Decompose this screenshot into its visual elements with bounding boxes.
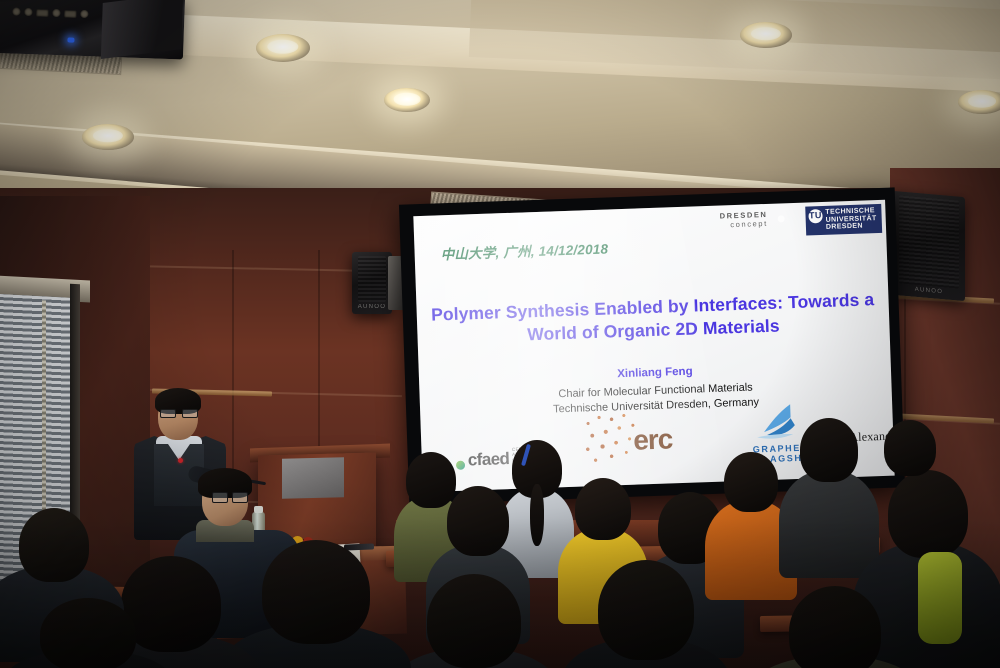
downlight-icon bbox=[384, 88, 430, 112]
downlight-icon bbox=[256, 34, 310, 62]
audience-head bbox=[447, 486, 509, 556]
tu-dresden-logo: TU TECHNISCHE UNIVERSITÄT DRESDEN bbox=[805, 204, 882, 235]
tu-dresden-line3: DRESDEN bbox=[826, 222, 877, 231]
audience-head bbox=[427, 574, 521, 668]
audience-jacket-stripe bbox=[918, 552, 962, 644]
erc-wordmark: erc bbox=[633, 423, 673, 456]
tu-dresden-mark-icon: TU bbox=[808, 209, 822, 223]
audience-head bbox=[724, 452, 778, 512]
ceiling-projector bbox=[0, 0, 185, 59]
speaker-brand-label: AUNOO bbox=[352, 304, 392, 310]
audience-member bbox=[760, 586, 910, 668]
audience-head bbox=[884, 420, 936, 476]
audience-head bbox=[40, 598, 136, 668]
projector-body-face bbox=[101, 0, 183, 59]
audience-head bbox=[598, 560, 694, 660]
projector-ports bbox=[12, 3, 95, 22]
audience-head bbox=[789, 586, 881, 668]
audience-member bbox=[236, 540, 396, 668]
audience-body bbox=[779, 470, 879, 578]
audience-member bbox=[576, 560, 716, 668]
downlight-icon bbox=[740, 22, 792, 48]
dresden-concept-line2: concept bbox=[730, 219, 768, 229]
wall-speaker-left: AUNOO bbox=[352, 252, 392, 314]
projector-mount bbox=[0, 0, 56, 2]
presenter-lapel-pin bbox=[178, 458, 183, 463]
dresden-concept-logo: DRESDEN concept bbox=[719, 209, 789, 229]
audience-head bbox=[575, 478, 631, 540]
audience-glasses-icon bbox=[212, 492, 246, 501]
slide-title: Polymer Synthesis Enabled by Interfaces:… bbox=[424, 288, 881, 350]
audience-head bbox=[800, 418, 858, 482]
projector-power-led bbox=[67, 37, 74, 42]
wall-panel-seam bbox=[318, 250, 320, 460]
dresden-concept-text: DRESDEN concept bbox=[719, 210, 767, 230]
ceiling bbox=[0, 0, 1000, 200]
erc-logo: erc bbox=[580, 408, 700, 468]
audience-member bbox=[18, 598, 158, 668]
lecture-hall-photo: AUNOO AUNOO DRESDEN concept TU TECHNISCH… bbox=[0, 0, 1000, 668]
dresden-concept-ring-icon bbox=[772, 210, 790, 228]
presenter-glasses-icon bbox=[160, 409, 196, 416]
audience-member bbox=[880, 420, 940, 490]
downlight-icon bbox=[82, 124, 134, 150]
audience-member bbox=[404, 574, 544, 668]
audience-head bbox=[19, 508, 89, 582]
audience-head bbox=[262, 540, 370, 644]
wall-speaker-right: AUNOO bbox=[893, 191, 965, 301]
slide-header-venue-date: 中山大学, 广州, 14/12/2018 bbox=[440, 237, 608, 263]
downlight-icon bbox=[958, 90, 1000, 114]
audience-ponytail bbox=[530, 484, 544, 546]
audience-member bbox=[786, 418, 872, 568]
